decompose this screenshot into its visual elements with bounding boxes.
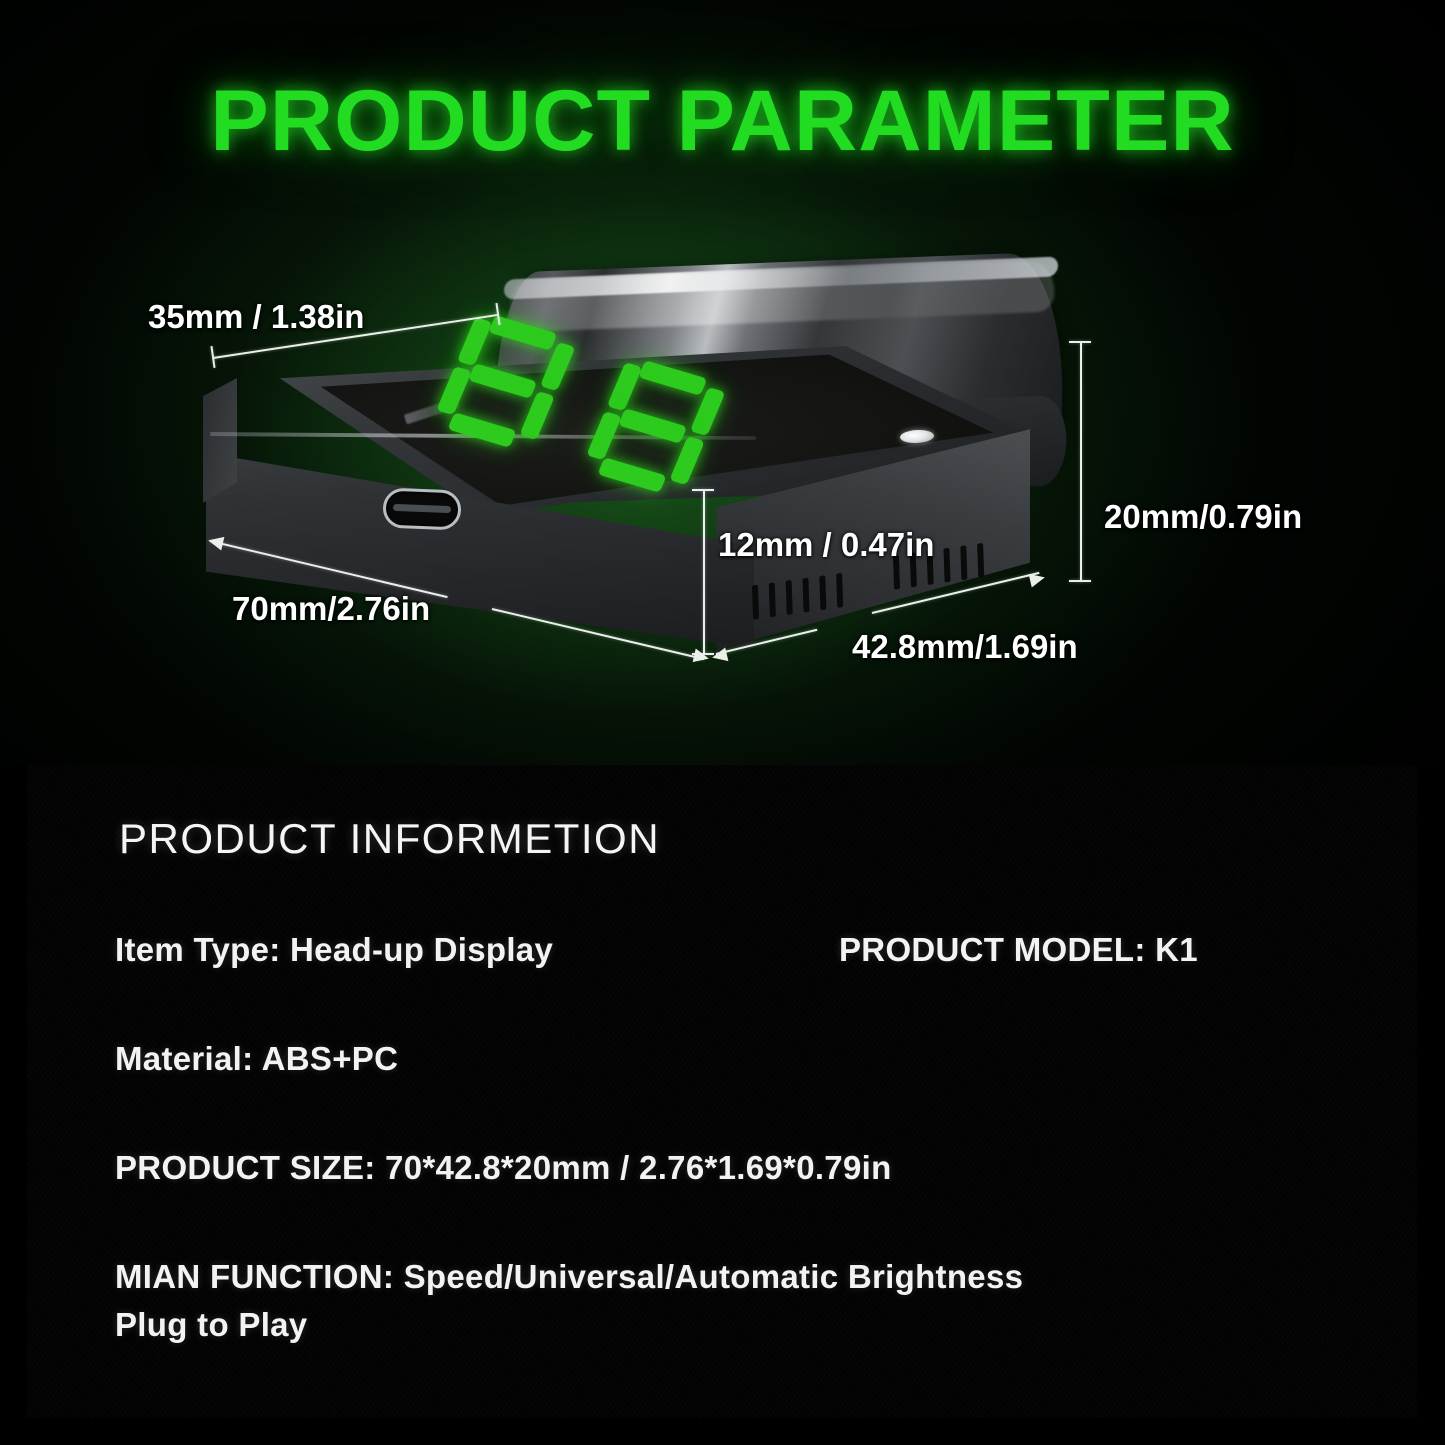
dimension-42-8mm-arrow-left [711,647,729,664]
product-information-panel: PRODUCT INFORMETION Item Type: Head-up D… [27,765,1417,1418]
info-row-item-type: Item Type: Head-up Display [115,928,553,972]
info-row-main-function: MIAN FUNCTION: Speed/Universal/Automatic… [115,1255,1023,1299]
dimension-12mm-cap-top [692,489,714,491]
dimension-20mm-cap-top [1069,341,1091,343]
dimension-70mm-arrow-right [693,648,711,665]
dimension-20mm-cap-bottom [1069,580,1091,582]
dimension-35mm-label: 35mm / 1.38in [148,298,364,336]
info-row-material: Material: ABS+PC [115,1037,398,1081]
dimension-12mm-label: 12mm / 0.47in [718,526,934,564]
info-row-product-size: PRODUCT SIZE: 70*42.8*20mm / 2.76*1.69*0… [115,1146,892,1190]
dimension-20mm-line [1080,342,1082,582]
dimension-70mm-label: 70mm/2.76in [232,590,430,628]
dimension-42-8mm-arrow-right [1029,570,1047,587]
info-row-main-function-cont: Plug to Play [115,1303,307,1347]
dimension-42-8mm-label: 42.8mm/1.69in [852,628,1078,666]
hero-section: PRODUCT PARAMETER [0,0,1445,765]
product-information-heading: PRODUCT INFORMETION [119,815,660,863]
dimension-12mm-line [703,490,705,655]
info-row-product-model: PRODUCT MODEL: K1 [839,928,1198,972]
product-image-hud-device: 35mm / 1.38in 70mm/2.76in 12mm / 0.47in … [0,0,1445,765]
dimension-20mm-label: 20mm/0.79in [1104,498,1302,536]
usb-c-port [382,488,461,531]
dimension-70mm-arrow-left [207,533,225,550]
